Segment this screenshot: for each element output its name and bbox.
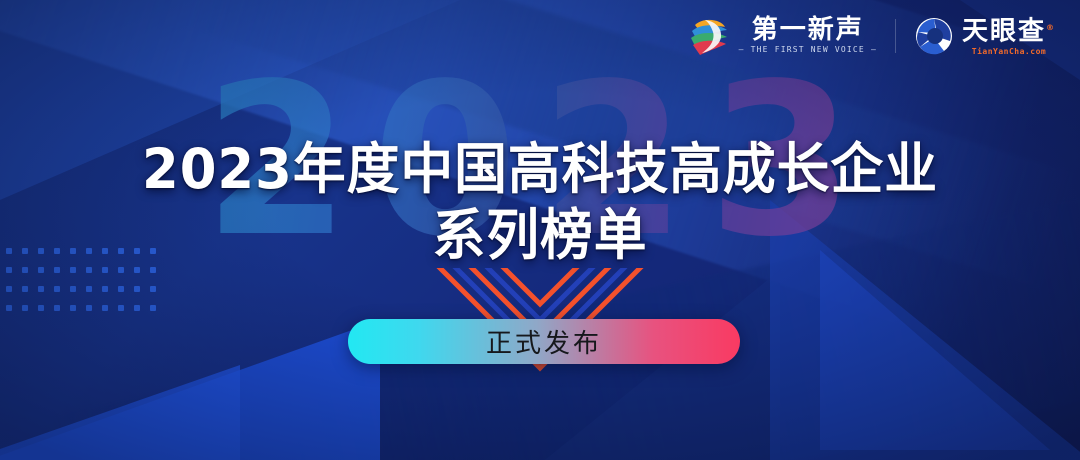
award-list-announcement-banner: 2023 2023年度中国高科技高成长企业 系列榜单 正式发布 bbox=[0, 0, 1080, 460]
logo-diyixinsheng-cn: 第一新声 bbox=[752, 16, 864, 44]
logo-tianyancha[interactable]: 天眼查® TianYanCha.com bbox=[914, 14, 1056, 58]
logo-tianyancha-text: 天眼查® TianYanCha.com bbox=[962, 14, 1056, 58]
page-title: 2023年度中国高科技高成长企业 系列榜单 bbox=[0, 136, 1080, 268]
title-line-2: 系列榜单 bbox=[22, 202, 1059, 268]
logo-diyixinsheng-en: — THE FIRST NEW VOICE — bbox=[739, 44, 877, 56]
logo-tianyancha-en: TianYanCha.com bbox=[972, 46, 1046, 58]
title-line-1: 2023年度中国高科技高成长企业 bbox=[22, 136, 1059, 202]
camera-eye-logo-icon bbox=[914, 16, 954, 56]
logo-divider bbox=[895, 19, 896, 53]
swirl-ribbon-logo-icon bbox=[687, 15, 731, 57]
logo-tianyancha-cn-label: 天眼查 bbox=[962, 17, 1046, 47]
logo-diyixinsheng-text: 第一新声 — THE FIRST NEW VOICE — bbox=[739, 16, 877, 56]
logo-bar: 第一新声 — THE FIRST NEW VOICE — 天眼查® TianYa… bbox=[687, 14, 1056, 58]
trademark-symbol: ® bbox=[1046, 23, 1056, 32]
release-cta-wrapper: 正式发布 bbox=[348, 319, 740, 364]
release-cta-button[interactable]: 正式发布 bbox=[348, 319, 740, 364]
logo-diyixinsheng[interactable]: 第一新声 — THE FIRST NEW VOICE — bbox=[687, 15, 877, 57]
release-cta-label: 正式发布 bbox=[486, 323, 602, 360]
logo-tianyancha-cn: 天眼查® bbox=[962, 14, 1056, 46]
